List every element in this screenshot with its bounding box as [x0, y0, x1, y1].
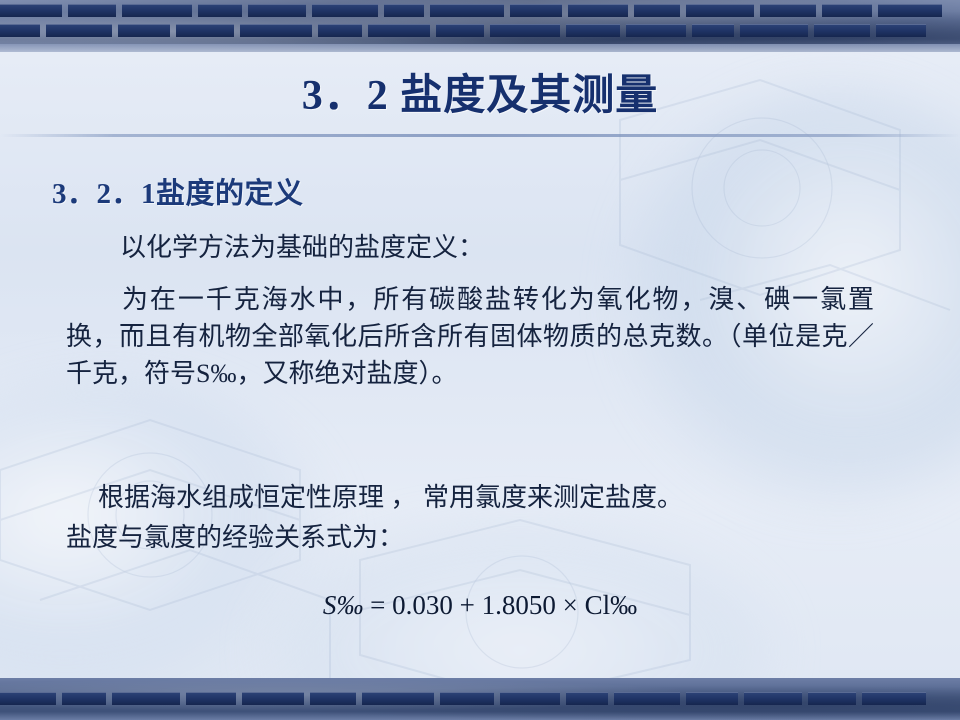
slide: 3．2 盐度及其测量 3．2．1盐度的定义 以化学方法为基础的盐度定义： 为在一… — [0, 0, 960, 720]
paragraph-chlorinity-principle: 根据海水组成恒定性原理 ， 常用氯度来测定盐度。 — [70, 480, 890, 517]
paragraph-definition-intro: 以化学方法为基础的盐度定义： — [120, 230, 880, 267]
title-divider — [0, 134, 960, 137]
formula-left-hand-side: S‰ — [323, 590, 364, 620]
slide-title: 3．2 盐度及其测量 — [0, 72, 960, 120]
salinity-formula: S‰ = 0.030 + 1.8050 × Cl‰ — [0, 590, 960, 621]
bottom-brick-row — [0, 692, 960, 705]
top-decorative-band — [0, 0, 960, 52]
formula-equals-sign: = — [370, 590, 385, 620]
formula-right-hand-side: 0.030 + 1.8050 × Cl‰ — [392, 590, 637, 620]
paragraph-relation-lead-in: 盐度与氯度的经验关系式为： — [66, 520, 886, 557]
top-brick-row-2 — [0, 24, 960, 37]
top-band-highlight-strip — [0, 44, 960, 52]
top-brick-row-1 — [0, 4, 960, 17]
bottom-decorative-band — [0, 678, 960, 720]
slide-content: 3．2．1盐度的定义 以化学方法为基础的盐度定义： 为在一千克海水中，所有碳酸盐… — [0, 150, 960, 670]
paragraph-definition-body: 为在一千克海水中，所有碳酸盐转化为氧化物，溴、碘一氯置换，而且有机物全部氧化后所… — [66, 282, 874, 393]
section-subheading: 3．2．1盐度的定义 — [52, 170, 304, 212]
